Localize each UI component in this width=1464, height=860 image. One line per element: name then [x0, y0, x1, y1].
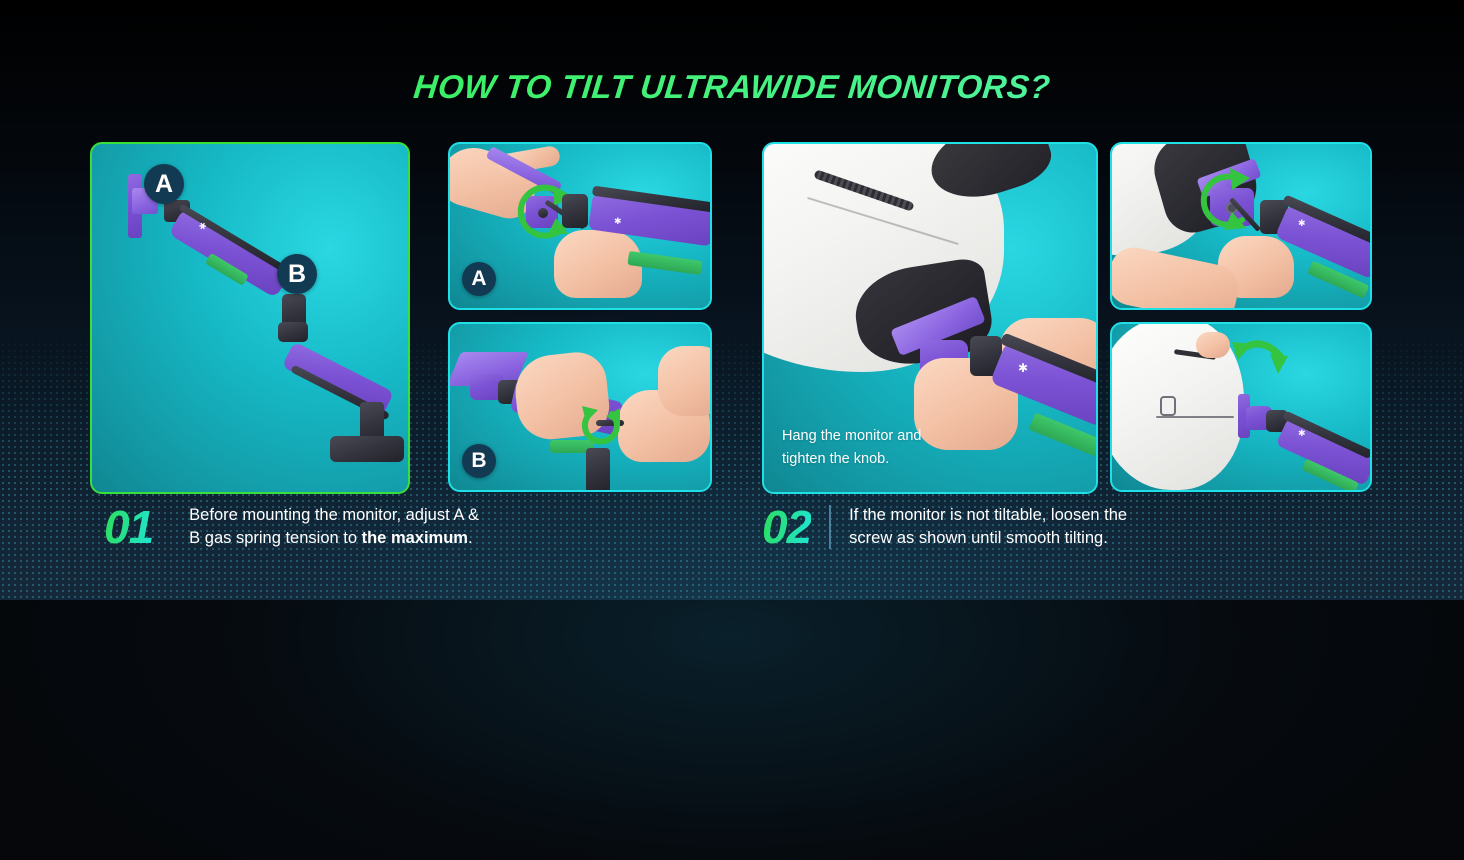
step-text-line2: screw as shown until smooth tilting.: [849, 527, 1127, 550]
step-text: Before mounting the monitor, adjust A & …: [189, 504, 479, 551]
monitor-logo-badge-icon: [1160, 396, 1176, 416]
joint-middle-collar: [278, 322, 308, 342]
panel-overview-arm: ✱ A B: [90, 142, 410, 494]
panel-caption-line2: tighten the knob.: [782, 448, 921, 470]
badge-b: B: [277, 254, 317, 294]
panel-caption-line1: Hang the monitor and: [782, 425, 921, 447]
step-text-line1: Before mounting the monitor, adjust A &: [189, 504, 479, 527]
brand-logo-icon: ✱: [1018, 362, 1028, 374]
step-number: 02: [762, 504, 811, 550]
panel-loosen-screw: ✱: [1110, 142, 1372, 310]
tilt-arrow-icon: [1230, 334, 1290, 382]
monitor-mid-seam: [1156, 416, 1234, 418]
badge-a: A: [144, 164, 184, 204]
page-title: HOW TO TILT ULTRAWIDE MONITORS?: [0, 68, 1464, 106]
panel-adjust-tension-b: B: [448, 322, 712, 492]
joint-collar: [562, 194, 588, 228]
panel-tilt-monitor: ✱: [1110, 322, 1372, 492]
step-text-line2: B gas spring tension to the maximum.: [189, 527, 479, 550]
badge-b: B: [462, 444, 496, 478]
step-divider: [829, 505, 831, 549]
step-01: 01 Before mounting the monitor, adjust A…: [104, 504, 479, 551]
step-number: 01: [104, 504, 153, 550]
brand-logo-icon: ✱: [1298, 430, 1306, 439]
desk-base: [330, 436, 404, 462]
panel-hang-monitor: ✱ Hang the monitor and tighten the knob.: [762, 142, 1098, 494]
panel-adjust-tension-a: ✱ A: [448, 142, 712, 310]
rotation-arrow-icon: [578, 404, 624, 446]
rotation-arrow-icon: [1194, 166, 1264, 242]
brand-logo-icon: ✱: [1298, 220, 1306, 229]
panel-caption: Hang the monitor and tighten the knob.: [782, 425, 921, 470]
post: [586, 448, 610, 492]
step-text-emphasis: the maximum: [362, 529, 468, 547]
step-text-prefix: B gas spring tension to: [189, 529, 361, 547]
brand-logo-icon: ✱: [614, 218, 622, 227]
step-02: 02 If the monitor is not tiltable, loose…: [762, 504, 1127, 551]
step-text-suffix: .: [468, 529, 473, 547]
step-text: If the monitor is not tiltable, loosen t…: [849, 504, 1127, 551]
hand-behind: [1196, 332, 1230, 358]
step-text-line1: If the monitor is not tiltable, loosen t…: [849, 504, 1127, 527]
forearm-right: [658, 346, 712, 416]
badge-a: A: [462, 262, 496, 296]
